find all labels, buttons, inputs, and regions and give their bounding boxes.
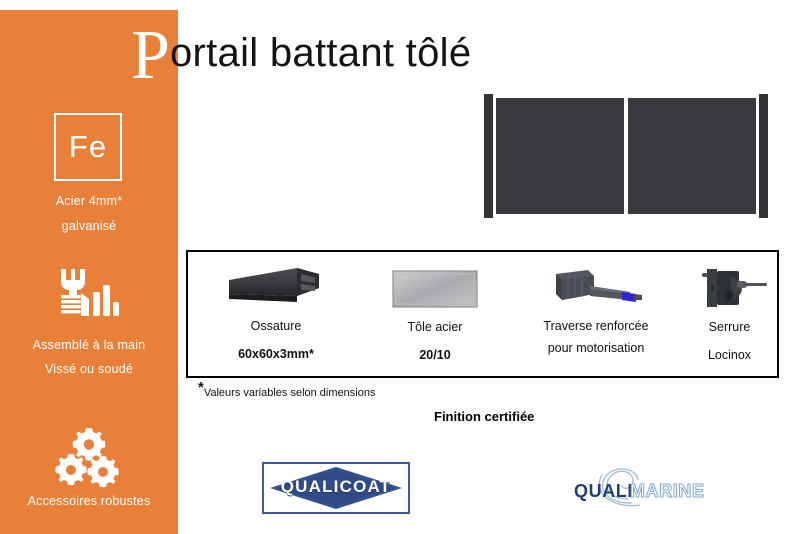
qualimarine-logo: QUALI MARINE <box>570 465 718 511</box>
sidebar-item-assembly-caption-2: Vissé ou soudé <box>0 360 178 379</box>
qualicoat-logo-text: QUALICOAT <box>264 477 408 497</box>
gate-post-right <box>759 94 768 218</box>
feature-serrure-value: Locinox <box>682 345 777 365</box>
feature-tole-label: Tôle acier <box>360 317 510 337</box>
feature-serrure-label: Serrure <box>682 317 777 337</box>
sidebar-item-steel-caption-2: galvanisé <box>0 217 178 236</box>
gears-icon <box>49 426 129 488</box>
motor-actuator-icon <box>542 264 650 312</box>
certification-title: Finition certifiée <box>434 409 534 424</box>
feature-traverse-value: pour motorisation <box>510 338 682 358</box>
sidebar-item-accessories-caption: Accessoires robustes <box>0 492 178 511</box>
page-title-initial: P <box>131 17 170 94</box>
feature-traverse: Traverse renforcée pour motorisation <box>510 252 682 380</box>
page-title: Portail battant tôlé <box>131 22 471 84</box>
feature-ossature-value: 60x60x3mm* <box>192 344 360 364</box>
gate-post-left <box>484 94 493 218</box>
features-panel: Ossature 60x60x3mm* <box>186 250 779 378</box>
qualimarine-logo-text-marine: MARINE <box>630 481 705 502</box>
feature-tole-value: 20/10 <box>360 345 510 365</box>
steel-sheet-icon <box>389 265 481 313</box>
sidebar-item-assembly-caption-1: Assemblé à la main <box>0 336 178 355</box>
gate-leaf-right <box>628 98 756 214</box>
fe-badge-label: Fe <box>56 115 120 179</box>
datasheet-page: Fe Acier 4mm* galvanisé <box>0 0 800 534</box>
fe-element-icon: Fe <box>54 113 122 181</box>
feature-traverse-label: Traverse renforcée <box>510 316 682 336</box>
qualimarine-logo-text-quali: QUALI <box>574 481 633 502</box>
steel-profile-icon <box>227 264 325 312</box>
wrench-hand-icon <box>49 268 129 326</box>
footnote-text: Valeurs variables selon dimensions <box>204 387 376 399</box>
feature-tole: Tôle acier 20/10 <box>360 252 510 380</box>
page-title-text: ortail battant tôlé <box>170 31 471 75</box>
lock-icon <box>691 263 769 313</box>
feature-ossature: Ossature 60x60x3mm* <box>192 252 360 380</box>
product-photo-gate <box>484 94 768 218</box>
sidebar-item-steel-caption-1: Acier 4mm* <box>0 192 178 211</box>
feature-ossature-label: Ossature <box>192 316 360 336</box>
qualicoat-logo: QUALICOAT <box>262 462 410 514</box>
feature-serrure: Serrure Locinox <box>682 252 777 380</box>
gate-leaf-left <box>496 98 624 214</box>
footnote: *Valeurs variables selon dimensions <box>198 379 375 399</box>
